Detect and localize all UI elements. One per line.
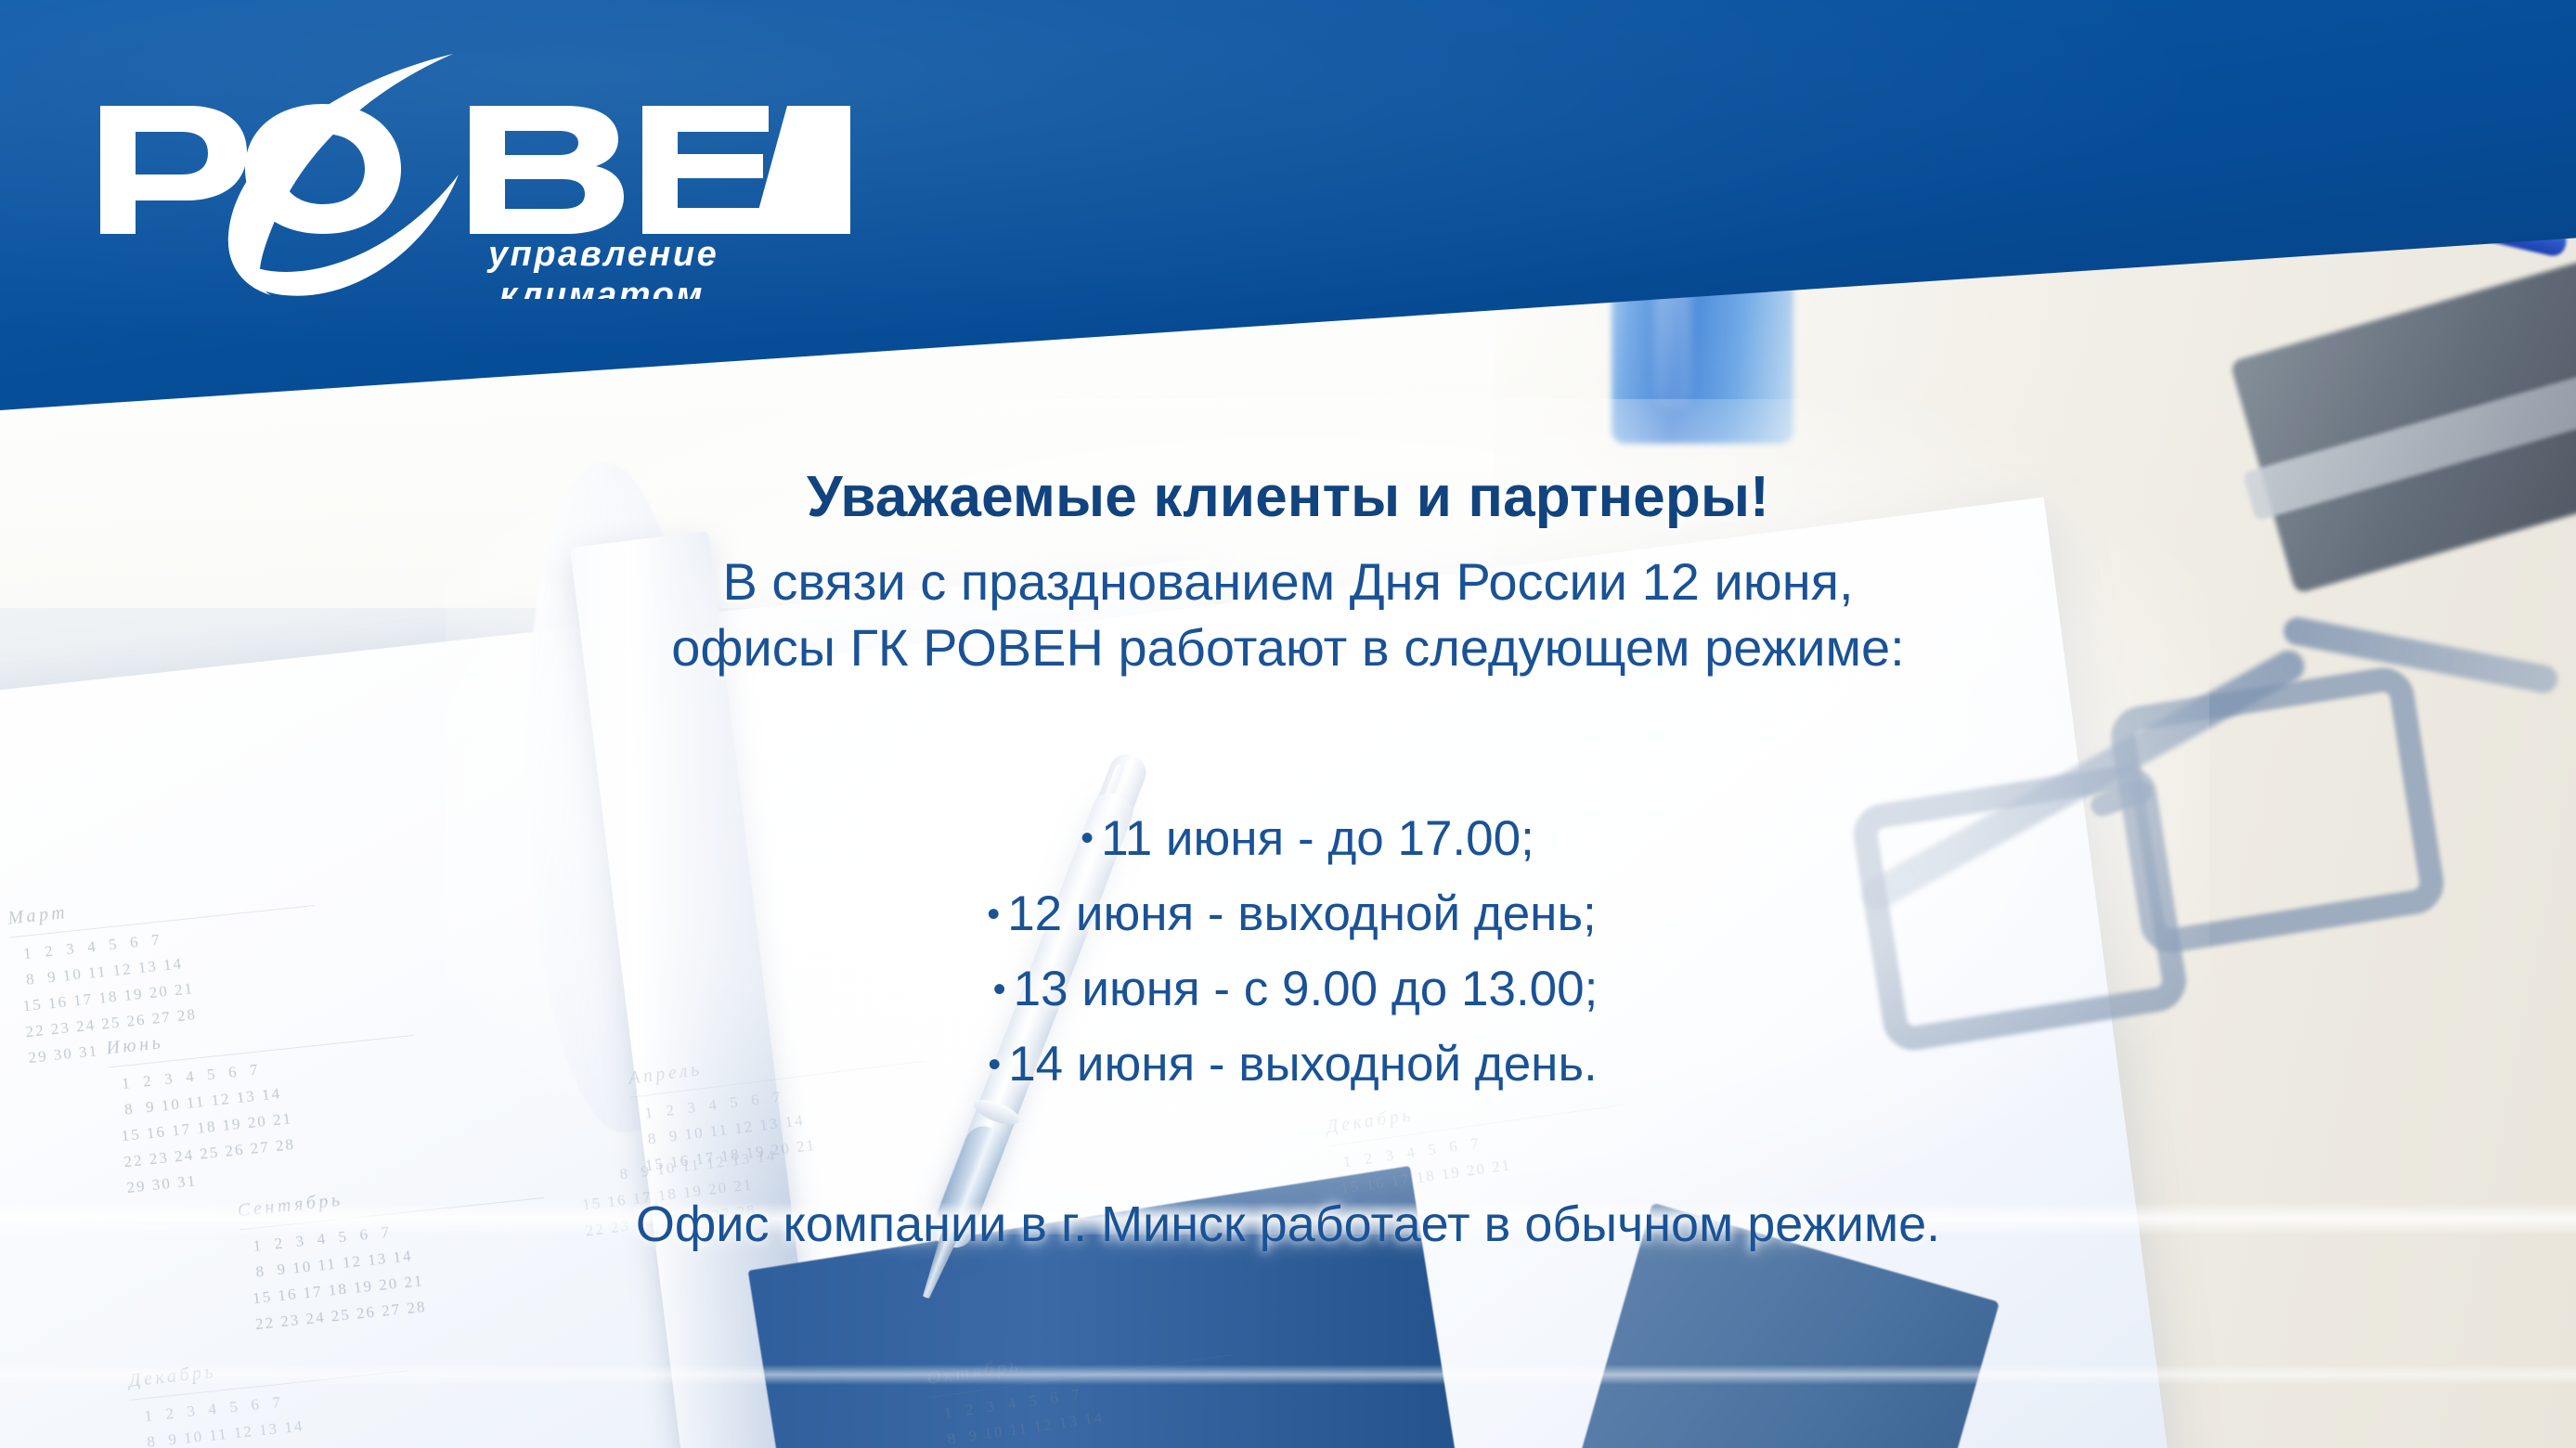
announcement-headline: Уважаемые клиенты и партнеры! (0, 464, 2576, 530)
announcement-intro-line-2: офисы ГК РОВЕН работают в следующем режи… (0, 615, 2576, 681)
schedule-item: •14 июня - выходной день. (0, 1027, 2576, 1102)
schedule-item-text: 12 июня - выходной день; (1007, 878, 1597, 950)
announcement-intro-line-1: В связи с празднованием Дня России 12 ию… (0, 549, 2576, 615)
bullet-icon: • (979, 887, 1007, 942)
bullet-icon: • (1073, 811, 1101, 866)
schedule-list: •11 июня - до 17.00; •12 июня - выходной… (0, 800, 2576, 1102)
announcement-poster: Март 1 2 3 4 5 6 7 8 9 10 11 12 13 14 15… (0, 0, 2576, 1448)
announcement-content: Уважаемые клиенты и партнеры! В связи с … (0, 0, 2576, 1448)
announcement-footnote: Офис компании в г. Минск работает в обыч… (0, 1196, 2576, 1253)
schedule-item: •13 июня - с 9.00 до 13.00; (0, 950, 2576, 1026)
bullet-icon: • (980, 1038, 1008, 1092)
schedule-item-text: 13 июня - с 9.00 до 13.00; (1014, 953, 1599, 1026)
schedule-item: •11 июня - до 17.00; (0, 800, 2576, 875)
schedule-item: •12 июня - выходной день; (0, 875, 2576, 950)
announcement-intro: В связи с празднованием Дня России 12 ию… (0, 549, 2576, 680)
schedule-item-text: 11 июня - до 17.00; (1101, 803, 1534, 875)
bullet-icon: • (986, 963, 1014, 1017)
schedule-item-text: 14 июня - выходной день. (1008, 1028, 1598, 1101)
